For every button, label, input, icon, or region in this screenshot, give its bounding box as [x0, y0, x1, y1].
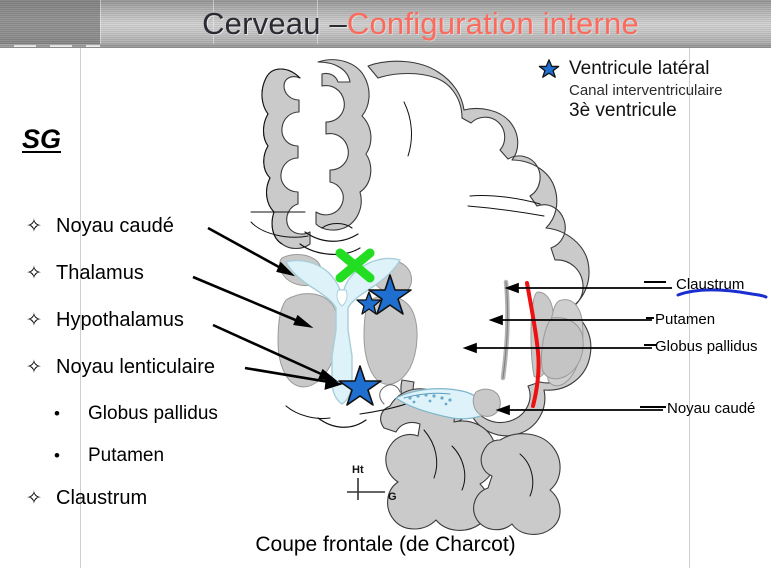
diamond-bullet-icon: ✧ — [22, 264, 56, 283]
list-item-label: Noyau caudé — [56, 215, 174, 238]
callout-label-claustrum: Claustrum — [676, 276, 744, 293]
dot-bullet-icon: • — [50, 447, 88, 464]
legend-label-ventricule-lateral: Ventricule latéral — [569, 58, 709, 80]
list-item-thalamus[interactable]: ✧ Thalamus — [22, 262, 292, 309]
callout-label-globus-pallidus: Globus pallidus — [655, 338, 758, 355]
blue-star-icon — [538, 58, 560, 80]
diamond-bullet-icon: ✧ — [22, 217, 56, 236]
ventricle-legend: Ventricule latéral Canal interventricula… — [538, 58, 768, 122]
diamond-bullet-icon: ✧ — [22, 358, 56, 377]
list-item-label: Putamen — [88, 445, 164, 467]
dot-bullet-icon: • — [50, 405, 88, 422]
title-bar: Cerveau – Configuration interne — [0, 0, 771, 48]
legend-label-3e-ventricule: 3è ventricule — [569, 100, 768, 122]
structures-outline-list: ✧ Noyau caudé ✧ Thalamus ✧ Hypothalamus … — [22, 215, 292, 534]
list-item-hypothalamus[interactable]: ✧ Hypothalamus — [22, 309, 292, 356]
section-heading: SG — [22, 124, 61, 155]
list-item-label: Claustrum — [56, 487, 147, 510]
list-item-noyau-caude[interactable]: ✧ Noyau caudé — [22, 215, 292, 262]
list-item-globus-pallidus[interactable]: • Globus pallidus — [22, 403, 292, 445]
list-item-label: Globus pallidus — [88, 403, 218, 425]
list-item-noyau-lenticulaire[interactable]: ✧ Noyau lenticulaire — [22, 356, 292, 403]
diamond-bullet-icon: ✧ — [22, 489, 56, 508]
callout-label-putamen: Putamen — [655, 311, 715, 328]
list-item-label: Noyau lenticulaire — [56, 356, 215, 379]
orientation-label-up: Ht — [352, 464, 364, 476]
slide-root: Cerveau – Configuration interne — [0, 0, 771, 568]
list-item-label: Hypothalamus — [56, 309, 184, 332]
page-title-primary: Cerveau – — [202, 6, 347, 42]
list-item-label: Thalamus — [56, 262, 144, 285]
callout-label-noyau-caude: Noyau caudé — [667, 400, 755, 417]
legend-label-canal-interventriculaire: Canal interventriculaire — [569, 82, 768, 99]
list-item-claustrum[interactable]: ✧ Claustrum — [22, 487, 292, 534]
legend-row-ventricule-lateral: Ventricule latéral — [538, 58, 768, 80]
page-title-accent: Configuration interne — [347, 6, 639, 42]
diamond-bullet-icon: ✧ — [22, 311, 56, 330]
orientation-label-left: G — [388, 491, 397, 503]
page-title: Cerveau – Configuration interne — [0, 0, 771, 48]
figure-caption: Coupe frontale (de Charcot) — [0, 533, 771, 557]
list-item-putamen[interactable]: • Putamen — [22, 445, 292, 487]
